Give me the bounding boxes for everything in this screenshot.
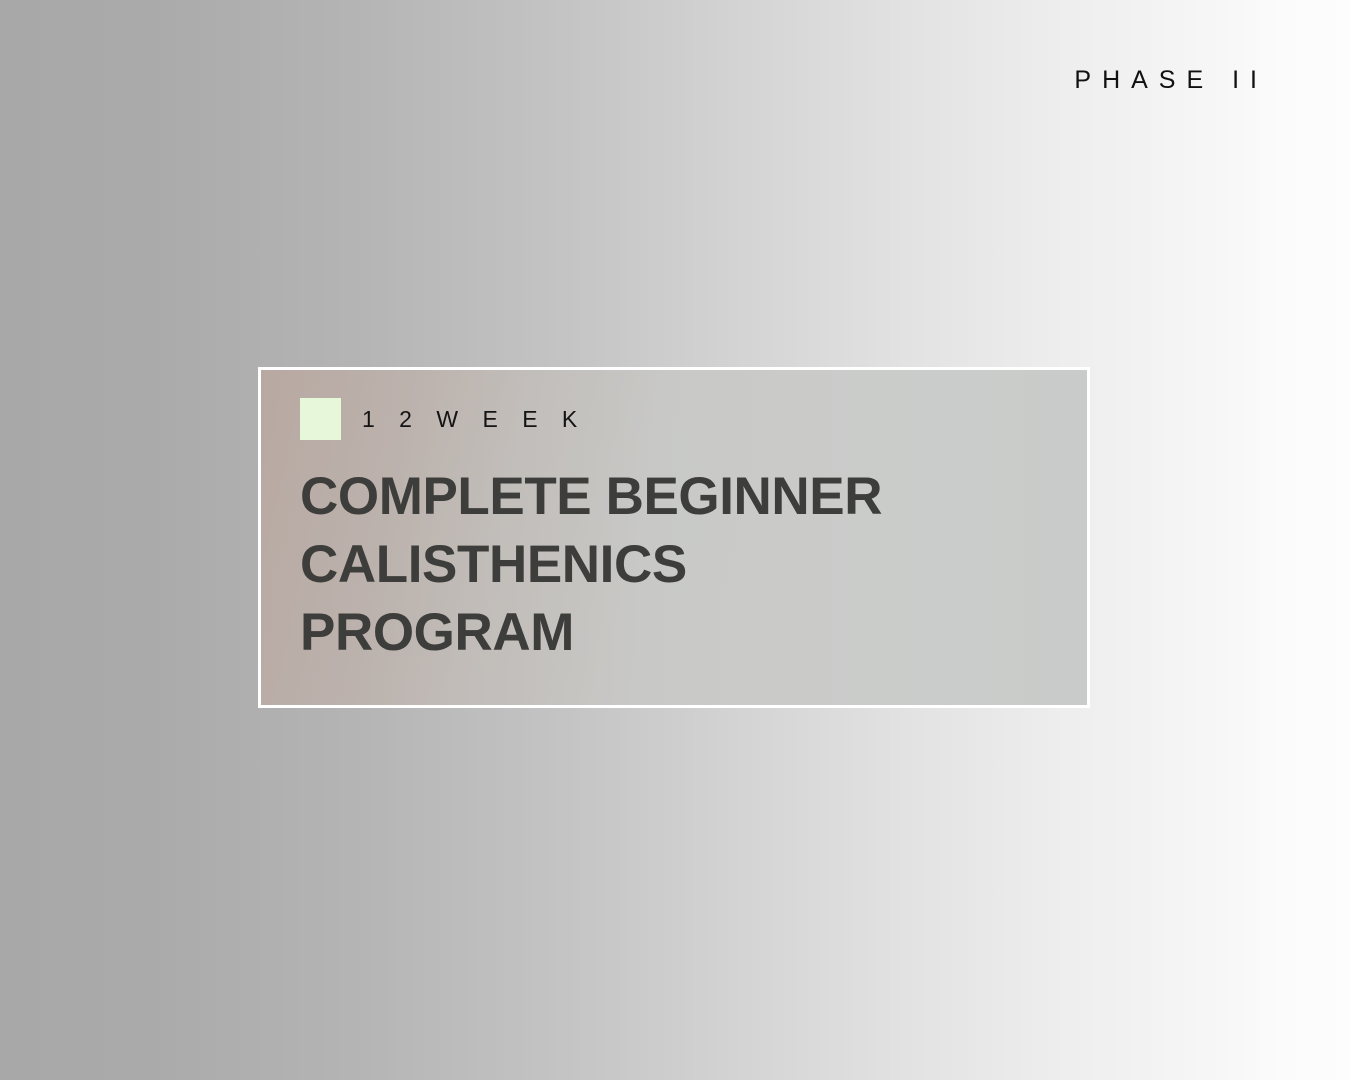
headline-line-3: PROGRAM — [300, 599, 1087, 667]
eyebrow-row: 1 2 W E E K — [300, 397, 1087, 441]
slide-canvas: PHASE II 1 2 W E E K COMPLETE BEGINNER C… — [0, 0, 1350, 1080]
headline-line-2: CALISTHENICS — [300, 531, 1087, 599]
card-content: 1 2 W E E K COMPLETE BEGINNER CALISTHENI… — [261, 370, 1087, 705]
page-title: COMPLETE BEGINNER CALISTHENICS PROGRAM — [300, 463, 1087, 666]
phase-label: PHASE II — [1074, 68, 1268, 93]
accent-square-icon — [300, 398, 341, 440]
eyebrow-label: 1 2 W E E K — [362, 408, 586, 431]
title-card: 1 2 W E E K COMPLETE BEGINNER CALISTHENI… — [258, 367, 1090, 708]
headline-line-1: COMPLETE BEGINNER — [300, 463, 1087, 531]
